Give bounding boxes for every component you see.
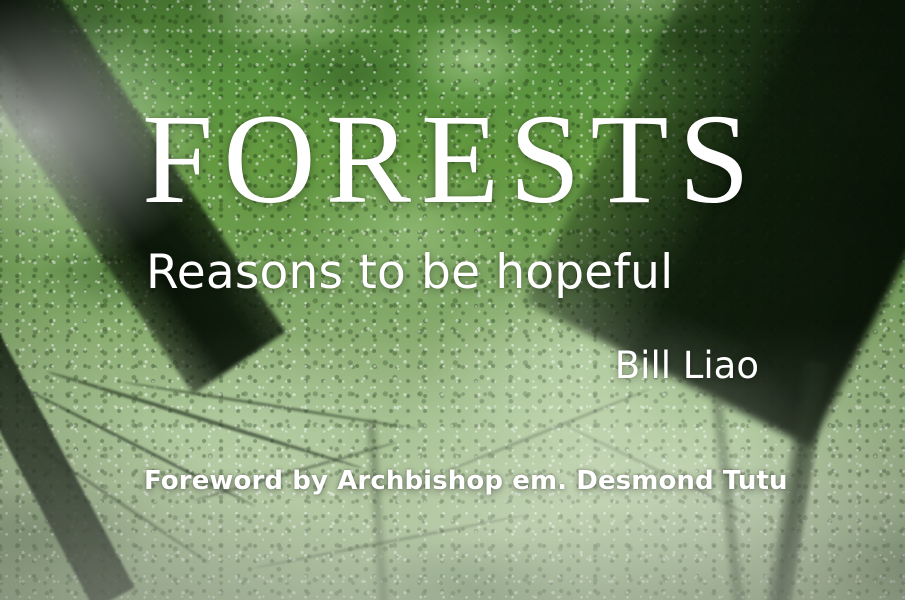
book-subtitle: Reasons to be hopeful xyxy=(146,249,673,296)
book-title: FORESTS xyxy=(142,95,760,223)
book-author: Bill Liao xyxy=(0,347,759,384)
book-foreword-credit: Foreword by Archbishop em. Desmond Tutu xyxy=(144,468,788,494)
book-cover: FORESTS Reasons to be hopeful Bill Liao … xyxy=(0,0,905,600)
cover-text-layer: FORESTS Reasons to be hopeful Bill Liao … xyxy=(0,0,905,600)
